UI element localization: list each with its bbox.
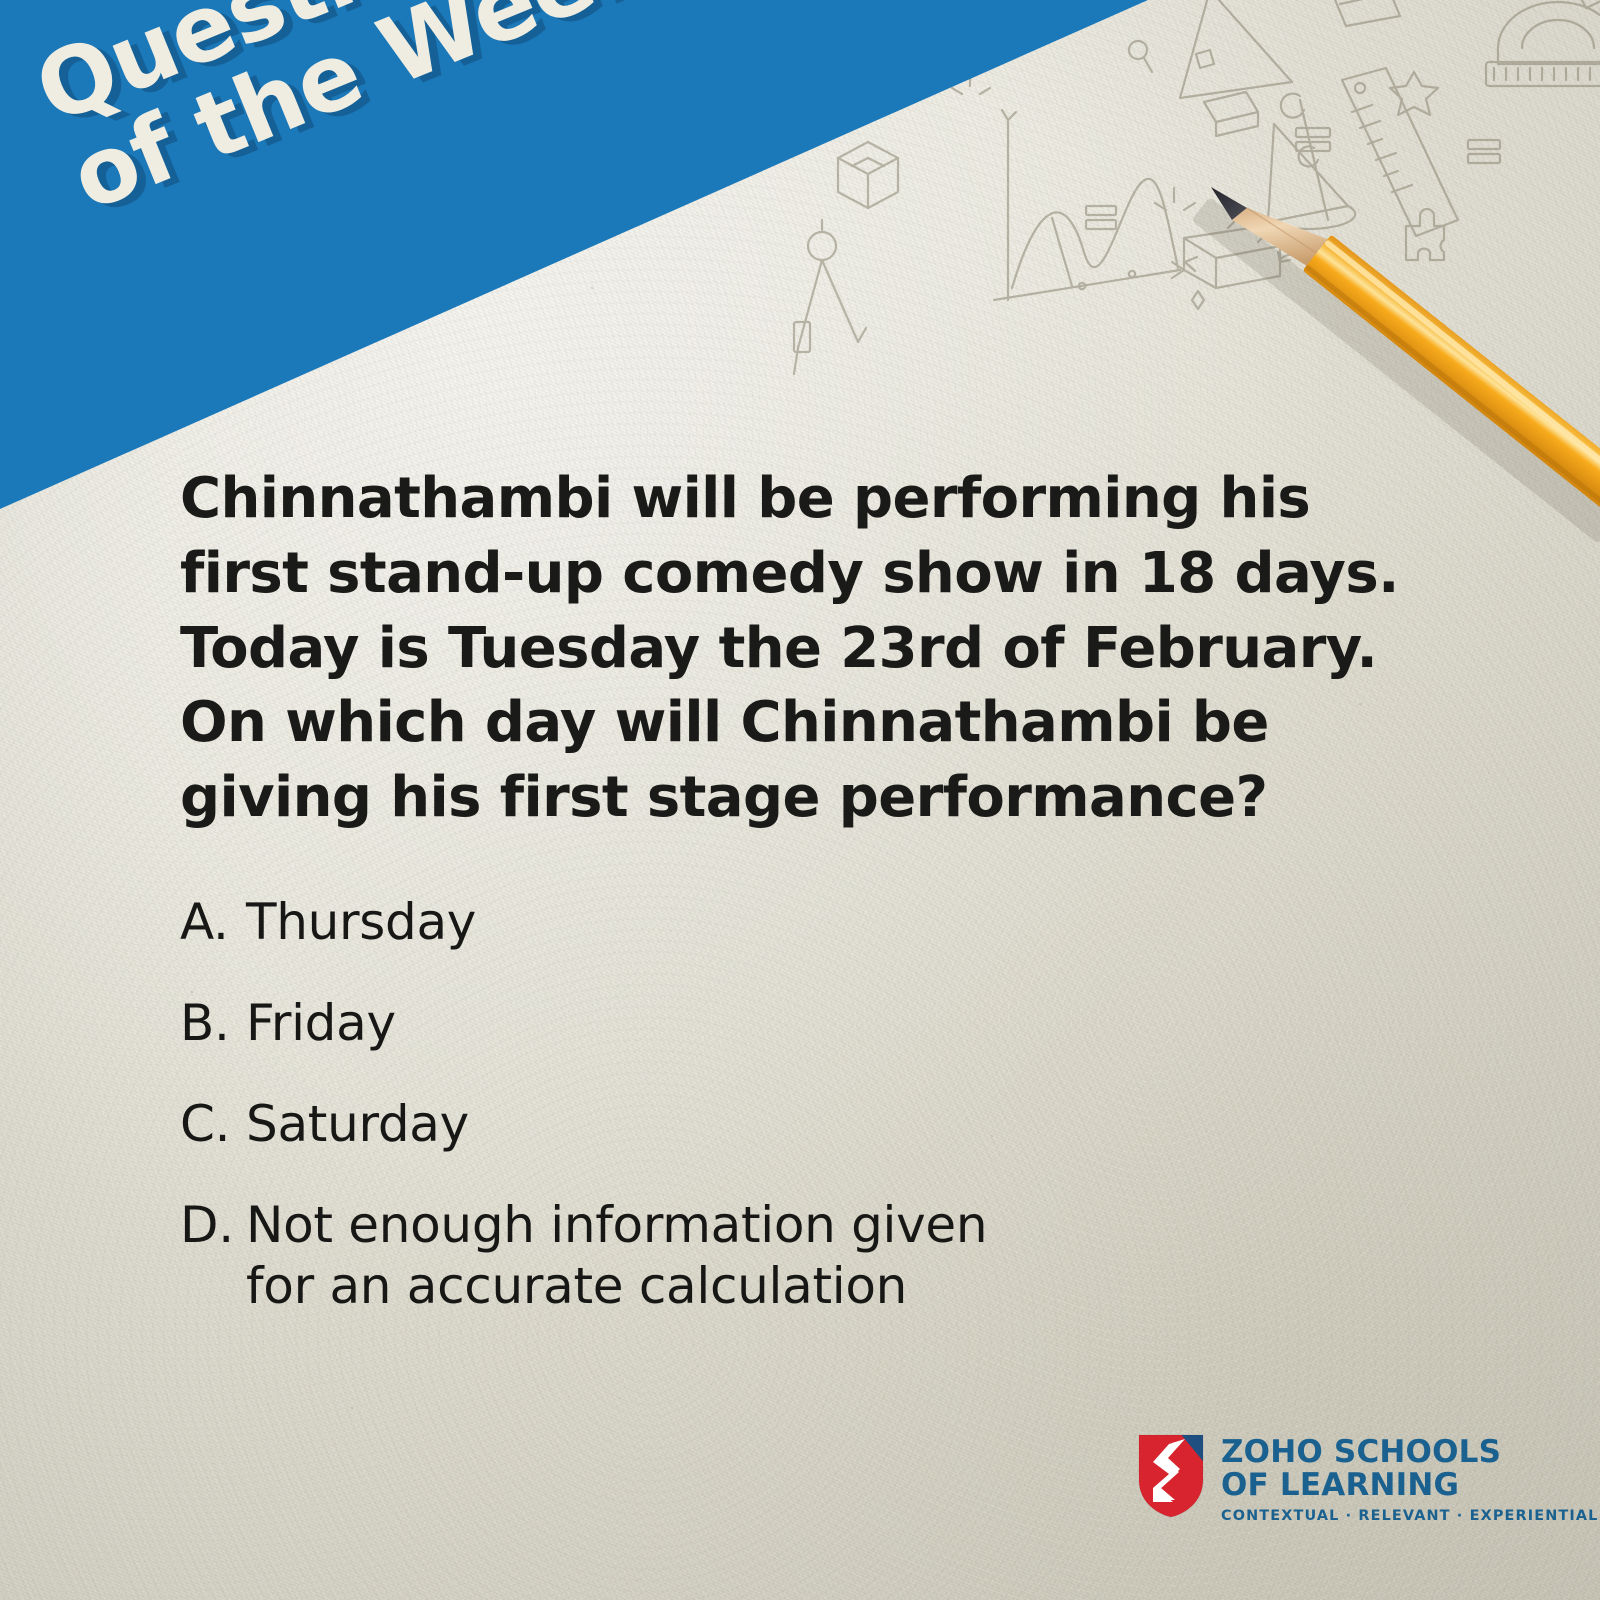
options-list: A. Thursday B. Friday C. Saturday D. Not… <box>180 892 1420 1317</box>
option-a-label: Thursday <box>246 892 1420 953</box>
option-c-label: Saturday <box>246 1094 1420 1155</box>
logo-tagline: CONTEXTUAL · RELEVANT · EXPERIENTIAL <box>1221 1509 1598 1523</box>
option-d[interactable]: D. Not enough information given for an a… <box>180 1195 1420 1317</box>
option-b-key: B. <box>180 993 246 1054</box>
logo-line-one: ZOHO SCHOOLS <box>1221 1436 1598 1469</box>
zoho-shield-icon <box>1135 1432 1207 1520</box>
option-d-label: Not enough information given for an accu… <box>246 1195 1420 1317</box>
poster-canvas: Question of the Week Chinnathambi will b… <box>0 0 1600 1600</box>
option-a-key: A. <box>180 892 246 953</box>
option-a[interactable]: A. Thursday <box>180 892 1420 953</box>
option-c-key: C. <box>180 1094 246 1155</box>
zoho-schools-logo: ZOHO SCHOOLS OF LEARNING CONTEXTUAL · RE… <box>1135 1432 1598 1523</box>
question-text: Chinnathambi will be performing his firs… <box>180 462 1405 836</box>
logo-wordmark: ZOHO SCHOOLS OF LEARNING CONTEXTUAL · RE… <box>1221 1432 1598 1523</box>
content-area: Chinnathambi will be performing his firs… <box>180 462 1420 1317</box>
logo-line-two: OF LEARNING <box>1221 1469 1598 1502</box>
option-d-key: D. <box>180 1195 246 1256</box>
option-c[interactable]: C. Saturday <box>180 1094 1420 1155</box>
option-b-label: Friday <box>246 993 1420 1054</box>
option-b[interactable]: B. Friday <box>180 993 1420 1054</box>
